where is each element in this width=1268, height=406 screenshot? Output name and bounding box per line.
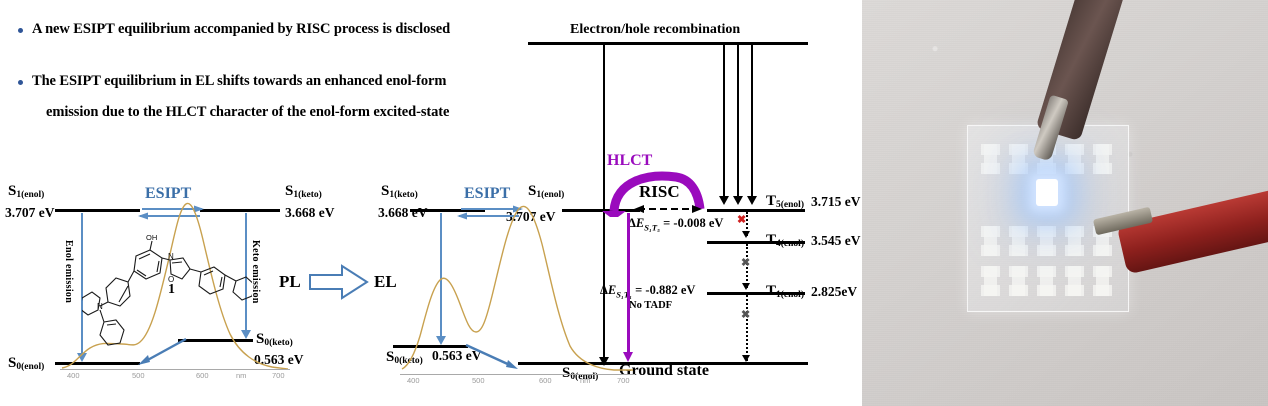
bullet-marker-icon — [18, 28, 23, 33]
figure-root: A new ESIPT equilibrium accompanied by R… — [0, 0, 1268, 406]
bullet-item-2-cont: emission due to the HLCT character of th… — [46, 104, 449, 121]
electron-hole-recombination-label: Electron/hole recombination — [570, 22, 740, 38]
level-line-recombination — [528, 42, 808, 45]
device-pixel — [1012, 266, 1025, 296]
level-energy-t4-enol: 3.545 eV — [811, 233, 861, 249]
bullet-item-1: A new ESIPT equilibrium accompanied by R… — [32, 21, 450, 38]
pl-axis-line — [60, 369, 290, 370]
pl-axis-tick-600: 600 — [196, 371, 209, 380]
delta-e-s1t1-value: = -0.882 eV — [635, 283, 695, 297]
recombination-arrow-t5-a — [723, 44, 725, 197]
svg-text:N: N — [97, 302, 103, 311]
pl-axis-unit: nm — [236, 371, 246, 380]
level-sub-t5-enol: 5(enol) — [776, 200, 804, 210]
level-sub-s0-enol: 0(enol) — [16, 362, 44, 372]
pl-mode-label: PL — [279, 272, 301, 292]
lit-emitting-pixel — [1036, 179, 1058, 206]
level-energy-s1-enol: 3.707 eV — [5, 205, 55, 221]
forbidden-x-icon-1: ✖ — [741, 256, 750, 269]
pl-axis-tick-400: 400 — [67, 371, 80, 380]
delta-e-s1t5-label: ΔES₁T₅ = -0.008 eV — [628, 216, 723, 233]
no-tadf-label: No TADF — [629, 300, 672, 311]
bullet-item-2: The ESIPT equilibrium in EL shifts towar… — [32, 73, 446, 90]
el-axis-tick-500: 500 — [472, 376, 485, 385]
level-sub-s1-enol: 1(enol) — [16, 190, 44, 200]
device-pixel — [1012, 144, 1025, 174]
level-label-s1-enol: S1(enol) — [8, 183, 44, 200]
svg-text:OH: OH — [146, 233, 157, 242]
level-energy-s1-keto: 3.668 eV — [285, 205, 335, 221]
el-axis-unit: nm — [580, 376, 590, 385]
pl-axis-tick-500: 500 — [132, 371, 145, 380]
level-label-s1-keto: S1(keto) — [285, 183, 322, 200]
device-pixel — [1040, 226, 1053, 256]
el-mode-label: EL — [374, 272, 397, 292]
molecule-structure-1: OH N O N — [82, 228, 252, 353]
device-pixel — [984, 144, 997, 174]
level-sub-t4-enol: 4(enol) — [776, 239, 804, 249]
delta-e-s1t5-value: = -0.008 eV — [663, 216, 723, 230]
oled-device-photo — [862, 0, 1268, 406]
forbidden-x-icon-2: ✖ — [741, 308, 750, 321]
el-axis-tick-600: 600 — [539, 376, 552, 385]
device-pixel — [1068, 266, 1081, 296]
device-pixel — [984, 226, 997, 256]
level-energy-t1-enol: 2.825eV — [811, 284, 857, 300]
isc-arrowhead-ground — [742, 355, 750, 362]
device-pixel — [1012, 226, 1025, 256]
level-label-t4-enol: T4(enol) — [766, 232, 804, 249]
pl-axis-tick-700: 700 — [272, 371, 285, 380]
recombination-arrow-t5-c — [751, 44, 753, 197]
risc-label: RISC — [639, 182, 680, 202]
pl-to-el-arrow-icon — [308, 264, 370, 300]
isc-dotted-t1-ground — [746, 295, 748, 361]
level-label-s0-enol: S0(enol) — [8, 355, 44, 372]
isc-arrowhead-t4 — [742, 231, 750, 238]
level-sub-t1-enol: 1(enol) — [776, 290, 804, 300]
device-pixel — [1040, 266, 1053, 296]
el-axis-tick-700: 700 — [617, 376, 630, 385]
device-pixel — [1096, 266, 1109, 296]
level-label-t5-enol: T5(enol) — [766, 193, 804, 210]
delta-e-s1t5-sub: S₁T₅ — [644, 223, 660, 233]
el-spectrum-curve — [400, 196, 635, 372]
isc-arrowhead-t1 — [742, 283, 750, 290]
s1-t5-dashed-arrow — [632, 203, 704, 215]
bullet-marker-icon — [18, 80, 23, 85]
level-sub-s1-keto: 1(keto) — [293, 190, 322, 200]
recombination-arrow-t5-b — [737, 44, 739, 197]
device-pixel — [984, 266, 997, 296]
el-axis-line — [400, 374, 635, 375]
level-label-t1-enol: T1(enol) — [766, 283, 804, 300]
device-pixel — [1096, 144, 1109, 174]
molecule-number-label: 1 — [168, 282, 175, 298]
level-energy-t5-enol: 3.715 eV — [811, 194, 861, 210]
svg-text:N: N — [168, 252, 174, 261]
el-axis-tick-400: 400 — [407, 376, 420, 385]
device-pixel — [1068, 144, 1081, 174]
device-pixel — [1068, 226, 1081, 256]
forbidden-x-icon-red: ✖ — [737, 213, 746, 226]
